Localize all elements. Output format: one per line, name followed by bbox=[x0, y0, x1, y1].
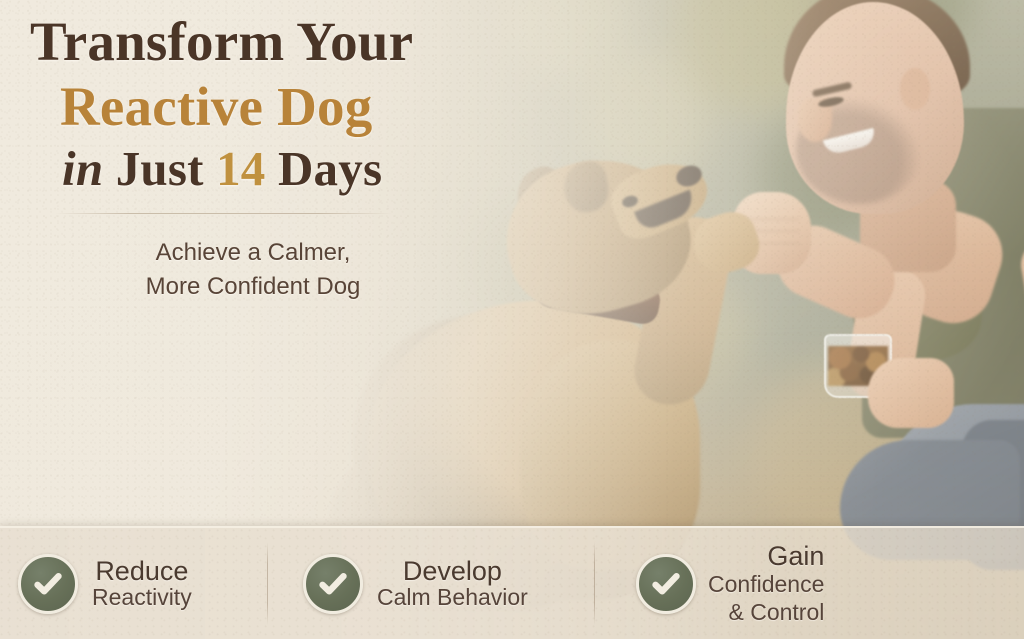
check-circle-icon bbox=[18, 554, 78, 614]
benefit-text-1: Reduce Reactivity bbox=[92, 557, 192, 610]
benefit-text-3: Gain Confidence & Control bbox=[708, 542, 824, 625]
check-circle-icon bbox=[303, 554, 363, 614]
headline-number-14: 14 bbox=[216, 141, 265, 196]
benefit-title-2: Develop bbox=[377, 557, 528, 585]
benefit-item-gain-confidence-control: Gain Confidence & Control bbox=[594, 528, 1024, 639]
benefit-text-2: Develop Calm Behavior bbox=[377, 557, 528, 610]
headline-italic-in: in bbox=[62, 141, 103, 196]
subheadline-block: Achieve a Calmer, More Confident Dog bbox=[88, 236, 418, 304]
benefit-detail-3-line-2: & Control bbox=[708, 599, 824, 625]
check-circle-icon bbox=[636, 554, 696, 614]
benefit-item-develop-calm-behavior: Develop Calm Behavior bbox=[267, 528, 594, 639]
benefit-title-3: Gain bbox=[708, 542, 824, 570]
headline-just: Just bbox=[103, 141, 216, 196]
subheadline-line-1: Achieve a Calmer, bbox=[88, 236, 418, 270]
benefit-item-reduce-reactivity: Reduce Reactivity bbox=[0, 528, 267, 639]
headline-line-3: in Just 14 Days bbox=[62, 144, 498, 193]
benefit-title-1: Reduce bbox=[92, 557, 192, 585]
headline-line-1: Transform Your bbox=[30, 14, 498, 69]
headline-block: Transform Your Reactive Dog in Just 14 D… bbox=[28, 14, 498, 304]
benefit-bar: Reduce Reactivity Develop Calm Behavior … bbox=[0, 526, 1024, 639]
headline-divider-rule bbox=[56, 213, 392, 214]
benefit-detail-2: Calm Behavior bbox=[377, 586, 528, 610]
subheadline-line-2: More Confident Dog bbox=[88, 270, 418, 304]
benefit-detail-1: Reactivity bbox=[92, 586, 192, 610]
benefit-divider-2 bbox=[594, 542, 595, 625]
benefit-detail-3-line-1: Confidence bbox=[708, 571, 824, 597]
headline-days: Days bbox=[266, 141, 383, 196]
benefit-divider-1 bbox=[267, 542, 268, 625]
promotional-banner: Transform Your Reactive Dog in Just 14 D… bbox=[0, 0, 1024, 639]
headline-line-2: Reactive Dog bbox=[60, 79, 498, 134]
